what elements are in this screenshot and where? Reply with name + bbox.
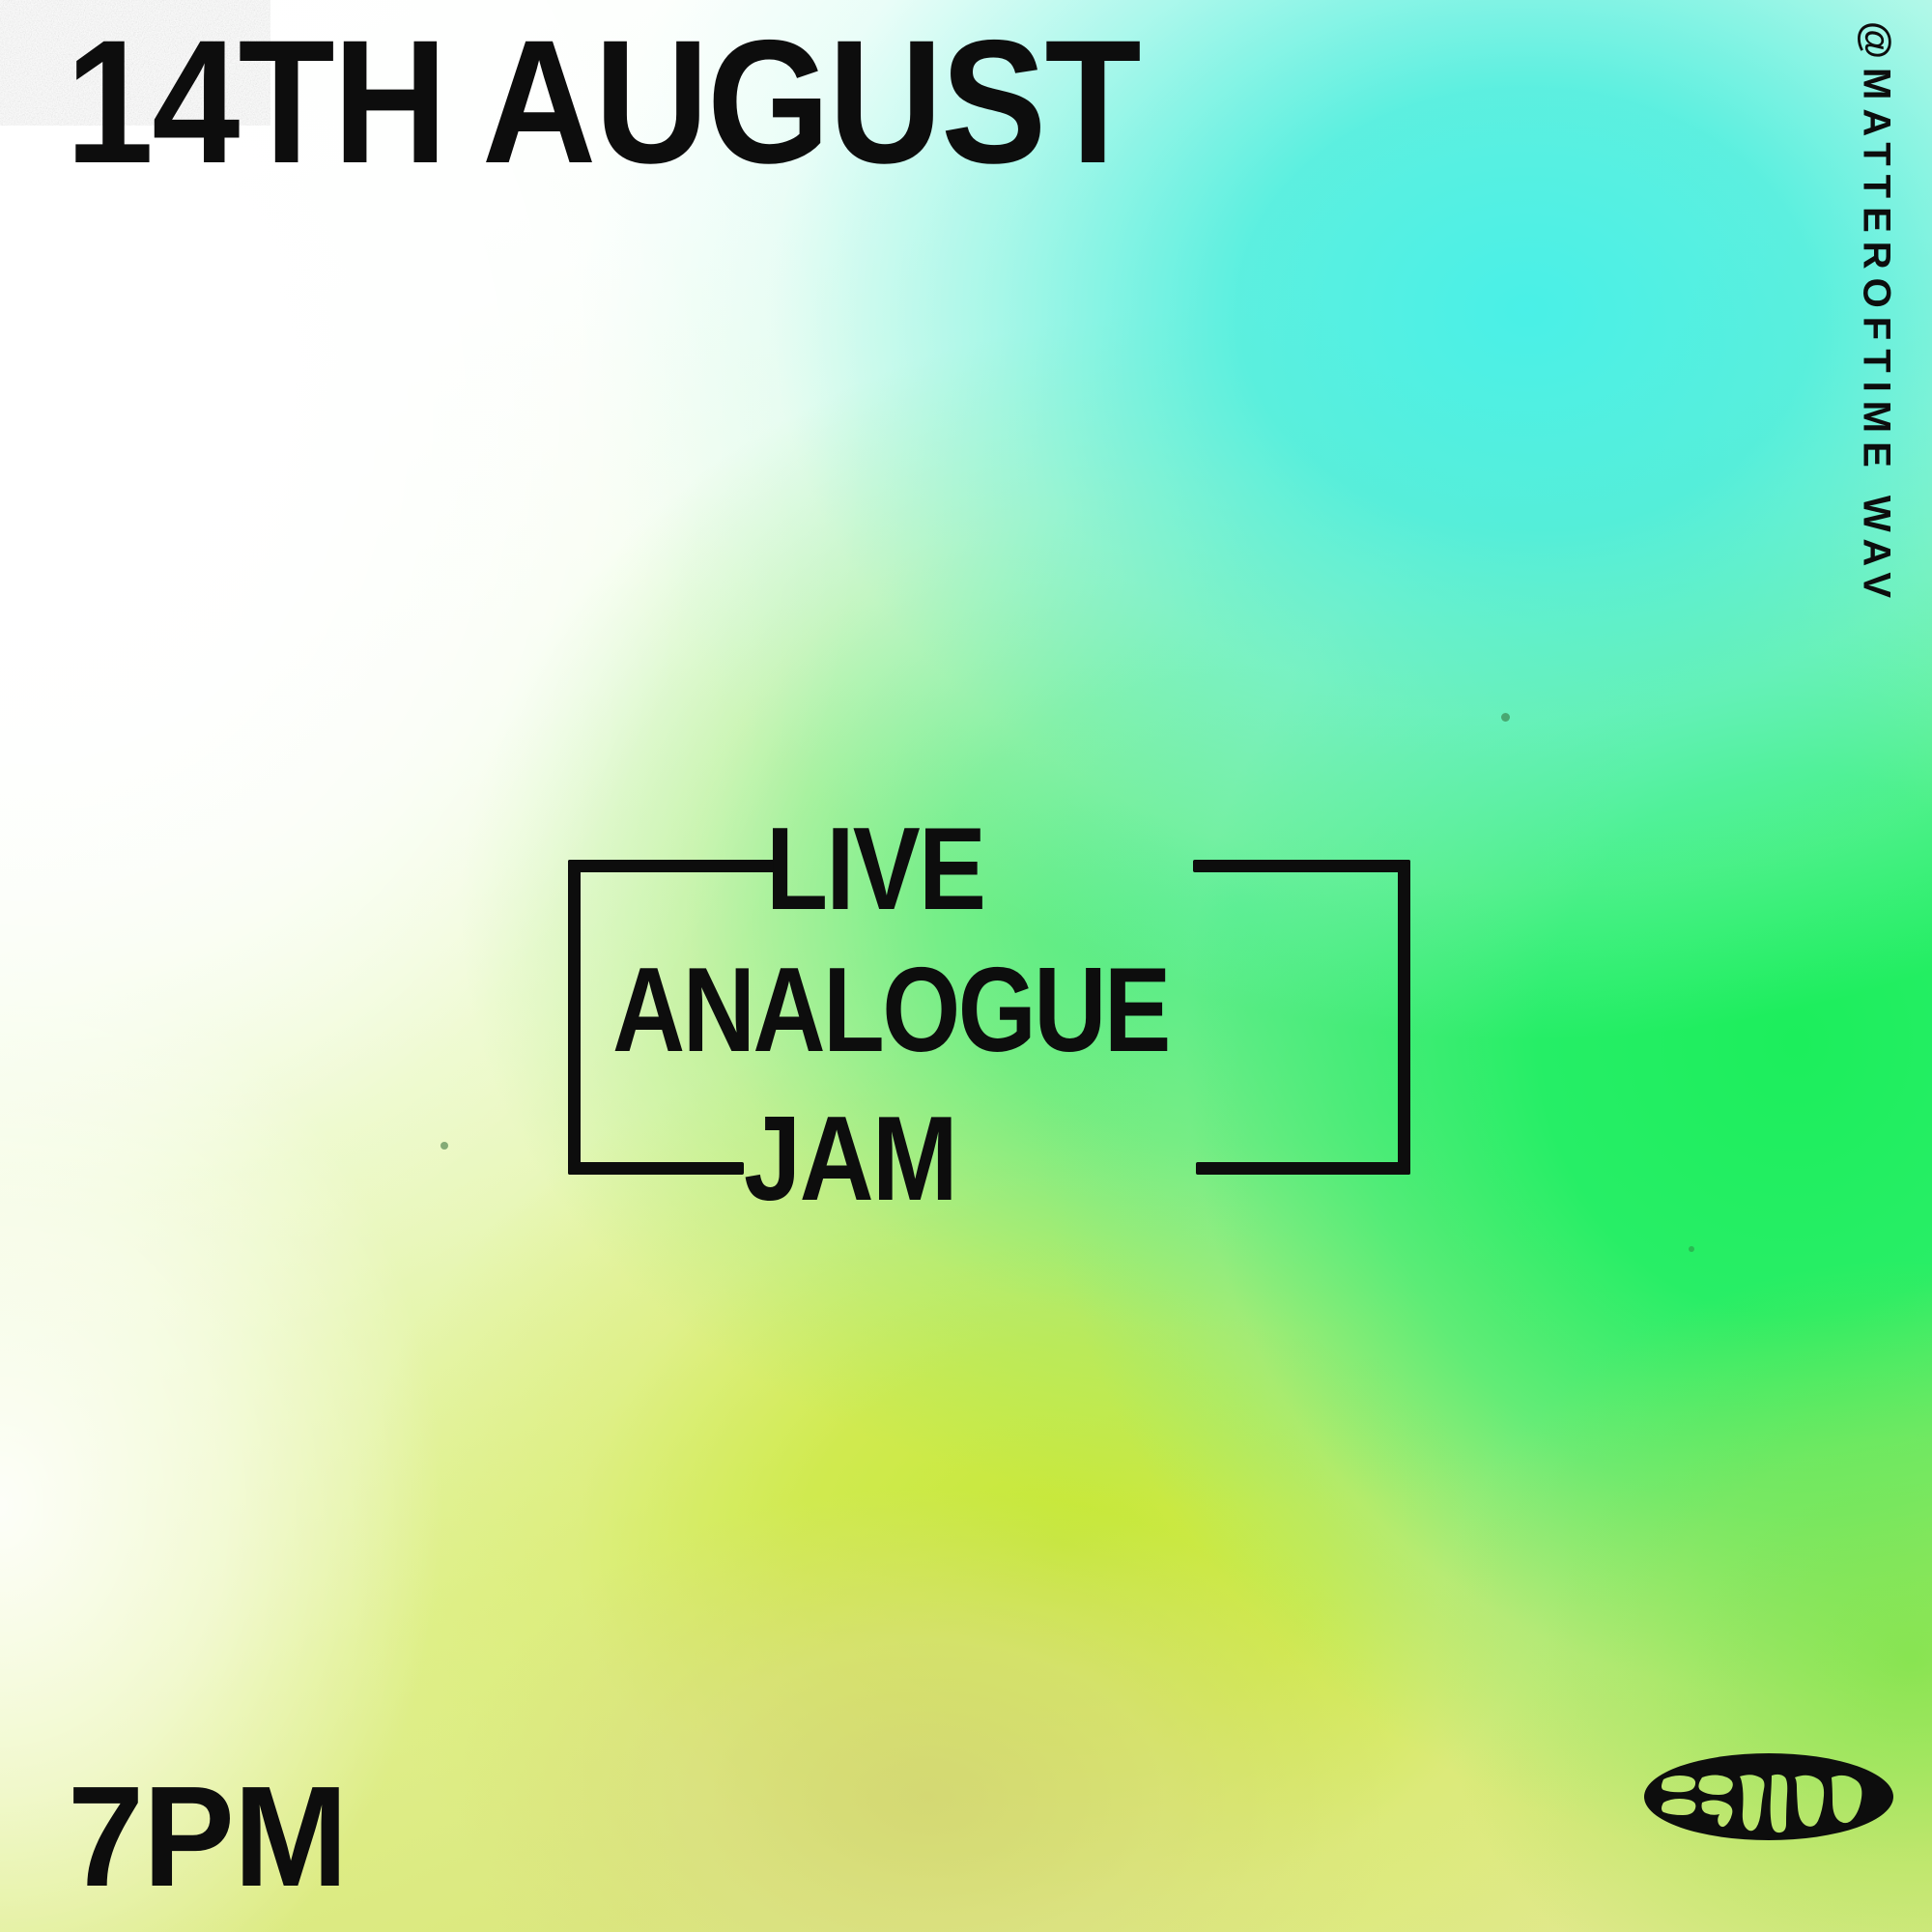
event-lockup: LIVE ANALOGUE JAM [568,827,1410,1213]
lockup-frame-right [1398,860,1410,1175]
lockup-frame-top-left [568,860,776,872]
print-speck [1689,1246,1694,1252]
lockup-frame-left [568,860,581,1175]
social-handle-text: @MATTEROFTIME WAV [1855,21,1898,607]
page-title: 14TH AUGUST [66,14,1140,189]
lockup-line-jam: JAM [744,1099,956,1219]
lockup-line-live: LIVE [766,810,984,927]
social-handle: @MATTEROFTIME WAV [1818,21,1932,697]
lockup-frame-bottom-left [568,1162,744,1175]
lockup-frame-top-right [1193,860,1410,872]
poster-canvas: 14TH AUGUST @MATTEROFTIME WAV LIVE ANALO… [0,0,1932,1932]
print-speck [440,1142,448,1150]
oval-wordmark-logo [1642,1745,1895,1849]
oval-wordmark-icon [1642,1745,1895,1849]
lockup-frame-bottom-right [1196,1162,1410,1175]
lockup-line-analogue: ANALOGUE [612,951,1169,1070]
event-time: 7PM [68,1766,347,1909]
print-speck [1501,713,1510,722]
